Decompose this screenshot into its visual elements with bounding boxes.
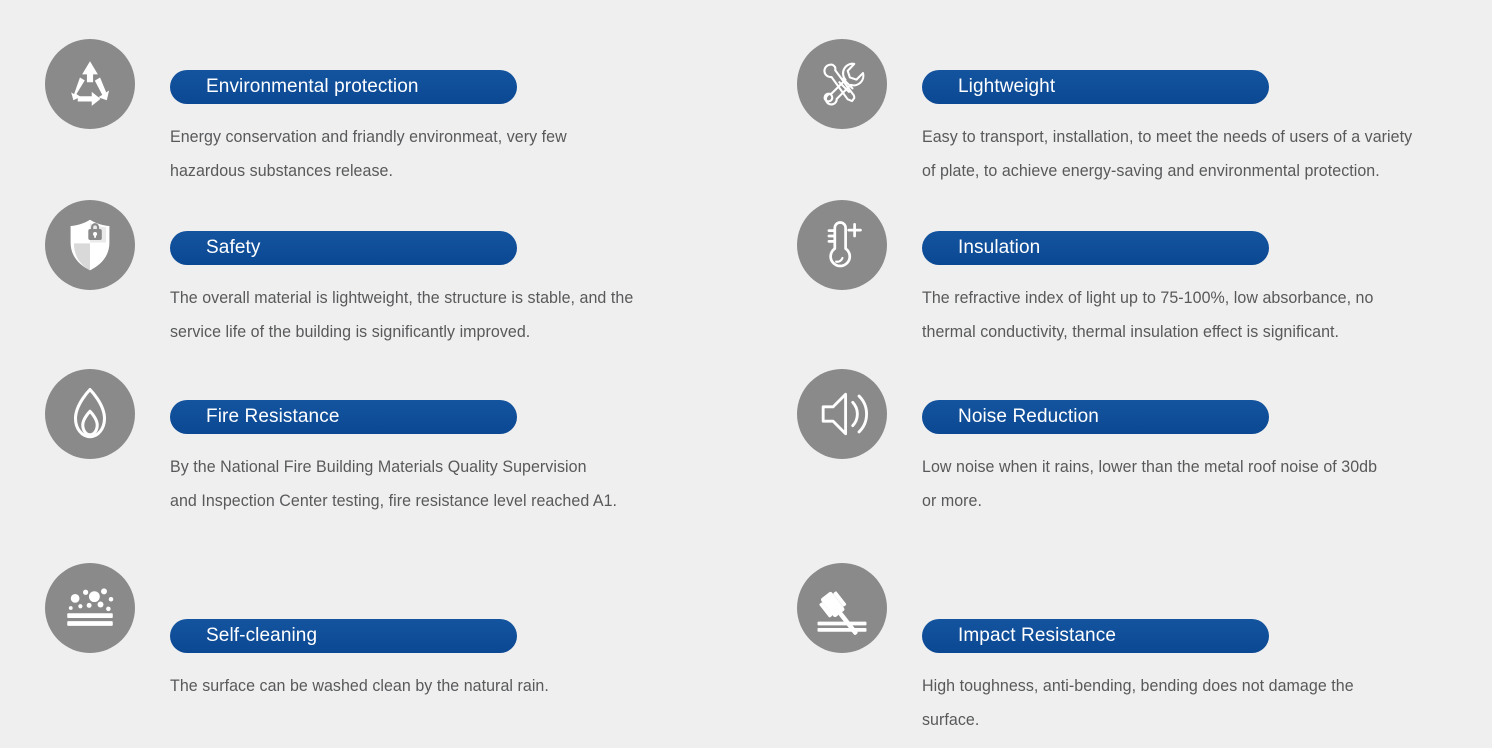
feature-body: SafetyThe overall material is lightweigh… xyxy=(170,231,730,349)
gavel-icon xyxy=(797,563,887,653)
feature-title-pill[interactable]: Self-cleaning xyxy=(170,619,517,653)
feature-description: Energy conservation and friandly environ… xyxy=(170,120,729,188)
recycle-icon xyxy=(45,39,135,129)
feature-description: Low noise when it rains, lower than the … xyxy=(922,450,1481,518)
thermometer-plus-icon xyxy=(797,200,887,290)
feature-body: Noise ReductionLow noise when it rains, … xyxy=(922,400,1482,518)
feature-description: The refractive index of light up to 75-1… xyxy=(922,281,1481,349)
feature-title-pill[interactable]: Lightweight xyxy=(922,70,1269,104)
tools-icon xyxy=(797,39,887,129)
feature-title-pill[interactable]: Impact Resistance xyxy=(922,619,1269,653)
feature-title-pill[interactable]: Insulation xyxy=(922,231,1269,265)
feature-description-line: By the National Fire Building Materials … xyxy=(170,450,729,484)
flame-icon xyxy=(45,369,135,459)
feature-description-line: service life of the building is signific… xyxy=(170,315,729,349)
feature-description-line: thermal conductivity, thermal insulation… xyxy=(922,315,1481,349)
shield-lock-icon xyxy=(45,200,135,290)
feature-body: Fire ResistanceBy the National Fire Buil… xyxy=(170,400,730,518)
feature-description: Easy to transport, installation, to meet… xyxy=(922,120,1481,188)
feature-description: The overall material is lightweight, the… xyxy=(170,281,729,349)
feature-description-line: surface. xyxy=(922,703,1481,737)
features-board: Environmental protectionEnergy conservat… xyxy=(0,0,1492,748)
feature-description: The surface can be washed clean by the n… xyxy=(170,669,729,703)
feature-description-line: hazardous substances release. xyxy=(170,154,729,188)
feature-title-pill[interactable]: Safety xyxy=(170,231,517,265)
feature-description-line: and Inspection Center testing, fire resi… xyxy=(170,484,729,518)
feature-description-line: High toughness, anti-bending, bending do… xyxy=(922,669,1481,703)
feature-body: Environmental protectionEnergy conservat… xyxy=(170,70,730,188)
feature-description-line: Easy to transport, installation, to meet… xyxy=(922,120,1481,154)
feature-body: Self-cleaningThe surface can be washed c… xyxy=(170,619,730,703)
self-cleaning-icon xyxy=(45,563,135,653)
feature-description-line: Low noise when it rains, lower than the … xyxy=(922,450,1481,484)
feature-description-line: The surface can be washed clean by the n… xyxy=(170,669,729,703)
feature-title-pill[interactable]: Environmental protection xyxy=(170,70,517,104)
feature-body: Impact ResistanceHigh toughness, anti-be… xyxy=(922,619,1482,737)
feature-body: InsulationThe refractive index of light … xyxy=(922,231,1482,349)
feature-title-pill[interactable]: Fire Resistance xyxy=(170,400,517,434)
feature-description: By the National Fire Building Materials … xyxy=(170,450,729,518)
feature-description: High toughness, anti-bending, bending do… xyxy=(922,669,1481,737)
feature-description-line: of plate, to achieve energy-saving and e… xyxy=(922,154,1481,188)
feature-description-line: The overall material is lightweight, the… xyxy=(170,281,729,315)
feature-description-line: The refractive index of light up to 75-1… xyxy=(922,281,1481,315)
speaker-icon xyxy=(797,369,887,459)
feature-description-line: or more. xyxy=(922,484,1481,518)
feature-title-pill[interactable]: Noise Reduction xyxy=(922,400,1269,434)
feature-description-line: Energy conservation and friandly environ… xyxy=(170,120,729,154)
feature-body: LightweightEasy to transport, installati… xyxy=(922,70,1482,188)
